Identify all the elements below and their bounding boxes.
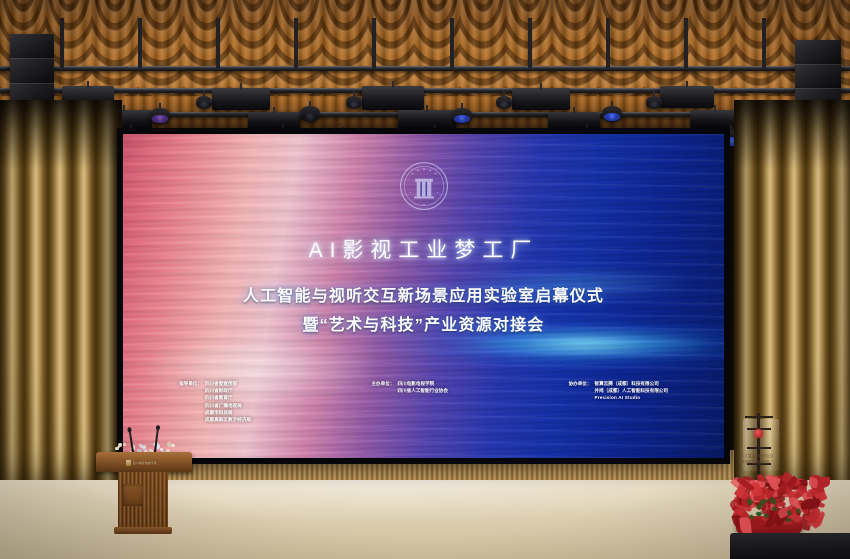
curtain-shadow-right	[734, 100, 850, 170]
truss-hanger	[60, 18, 64, 68]
lighting-truss-2	[0, 88, 850, 93]
led-screen-frame: AI影视工业梦工厂 人工智能与视听交互新场景应用实验室启幕仪式 暨“艺术与科技”…	[117, 128, 730, 464]
plaque-text-line-2: 新场景应用实验室	[741, 459, 770, 464]
credit-entry-1-1: 四川省人工智能行业协会	[397, 388, 448, 393]
wall-drape-texture	[0, 0, 850, 96]
screen-headline: AI影视工业梦工厂	[123, 234, 724, 264]
par-lens	[497, 101, 510, 108]
poinsettia-display	[714, 472, 830, 534]
microphone-head-right	[156, 425, 161, 430]
fixture-yoke	[730, 125, 732, 132]
podium-base	[114, 527, 172, 534]
profile-spotlight-fixture-3	[512, 88, 570, 110]
plaque-text-line-1: 人工智能与视听交互	[741, 453, 773, 458]
fixture-yoke	[426, 105, 428, 112]
par-lens	[647, 101, 660, 108]
fixture-yoke	[540, 83, 542, 90]
profile-spotlight-fixture-2	[362, 86, 424, 110]
podium-plate-text: 四川电影电视学院	[133, 461, 157, 465]
fixture-yoke	[653, 91, 655, 98]
podium-flower	[140, 445, 143, 448]
par-lens	[302, 113, 319, 121]
truss-hanger	[450, 18, 454, 68]
screen-subtitle-line-2: 暨“艺术与科技”产业资源对接会	[123, 311, 724, 335]
credit-entry-0-3: 四川省广播电视局	[205, 403, 251, 408]
credit-label-0: 指导单位：	[179, 381, 202, 387]
microphone-head-left	[127, 427, 132, 433]
credit-list-2: 智算云腾（成都）科技有限公司并鸠（成都）人工智能科技有限公司Precision …	[594, 381, 668, 401]
screen-credits: 指导单位：四川省委宣传部四川省财政厅四川省教育厅四川省广播电视局成都市科技局成都…	[123, 381, 724, 422]
speaker-cabinet-module	[795, 40, 841, 65]
fixture-yoke	[87, 81, 89, 88]
credit-entry-1-0: 四川电影电视学院	[397, 381, 448, 386]
fixture-yoke	[203, 91, 205, 98]
par-lens	[152, 115, 169, 123]
led-par-fixture-1	[300, 106, 320, 122]
podium-seal-icon	[126, 460, 131, 466]
led-par-fixture-3	[602, 106, 622, 122]
par-lens	[454, 115, 471, 123]
led-par-fixture-15	[346, 96, 362, 109]
foreground-equipment	[730, 533, 850, 559]
truss-hanger	[684, 18, 688, 68]
led-par-fixture-16	[496, 96, 512, 109]
credit-list-0: 四川省委宣传部四川省财政厅四川省教育厅四川省广播电视局成都市科技局成都高新区数字…	[205, 381, 251, 422]
fixture-yoke	[273, 107, 275, 114]
plaque-red-accent-icon	[754, 429, 763, 438]
par-lens	[604, 113, 621, 121]
fixture-yoke	[392, 81, 394, 88]
credit-entry-0-4: 成都市科技局	[205, 410, 251, 415]
fixture-yoke	[309, 101, 311, 108]
lighting-truss-1	[0, 66, 850, 71]
profile-spotlight-fixture-4	[660, 86, 714, 108]
side-curtain-left	[0, 100, 122, 480]
podium-flower	[123, 443, 126, 446]
credit-entry-2-1: 并鸠（成都）人工智能科技有限公司	[594, 388, 668, 393]
truss-hanger	[762, 18, 766, 68]
speaker-podium: 四川电影电视学院	[96, 428, 192, 536]
poinsettia-petal	[808, 477, 819, 489]
podium-flower	[118, 443, 122, 447]
credit-entry-2-2: Precision AI Studio	[594, 395, 668, 400]
credit-list-1: 四川电影电视学院四川省人工智能行业协会	[397, 381, 448, 393]
university-seal-emblem	[398, 160, 450, 212]
plaque-bar-1	[745, 416, 773, 418]
screen-subtitle-line-1: 人工智能与视听交互新场景应用实验室启幕仪式	[123, 282, 724, 306]
profile-spotlight-fixture-1	[212, 88, 270, 110]
truss-hanger	[528, 18, 532, 68]
credit-block-1: 主办单位：四川电影电视学院四川省人工智能行业协会	[371, 381, 448, 422]
fixture-yoke	[123, 105, 125, 112]
credit-entry-0-2: 四川省教育厅	[205, 395, 251, 400]
profile-spotlight-fixture-9	[690, 110, 740, 128]
podium-flower	[171, 444, 174, 447]
fixture-yoke	[353, 91, 355, 98]
truss-hanger	[294, 18, 298, 68]
truss-hanger	[138, 18, 142, 68]
profile-spotlight-fixture-7	[398, 110, 456, 130]
led-par-fixture-17	[646, 96, 662, 109]
fixture-yoke	[503, 91, 505, 98]
led-screen: AI影视工业梦工厂 人工智能与视听交互新场景应用实验室启幕仪式 暨“艺术与科技”…	[123, 134, 724, 458]
speaker-cabinet-module	[10, 59, 54, 84]
truss-hanger	[606, 18, 610, 68]
led-par-fixture-2	[452, 108, 472, 124]
credit-entry-0-5: 成都高新区数字经济局	[205, 417, 251, 422]
fixture-yoke	[573, 107, 575, 114]
credit-entry-0-0: 四川省委宣传部	[205, 381, 251, 386]
led-par-fixture-14	[196, 96, 212, 109]
led-par-fixture-0	[150, 108, 170, 124]
credit-entry-2-0: 智算云腾（成都）科技有限公司	[594, 381, 668, 386]
credit-block-0: 指导单位：四川省委宣传部四川省财政厅四川省教育厅四川省广播电视局成都市科技局成都…	[179, 381, 251, 422]
fixture-yoke	[686, 81, 688, 88]
par-lens	[347, 101, 360, 108]
plaque-bar-3	[747, 447, 771, 449]
fixture-yoke	[159, 103, 161, 110]
credit-label-2: 协办单位：	[569, 381, 592, 387]
speaker-cabinet-module	[10, 34, 54, 59]
speaker-cabinet-module	[795, 65, 841, 90]
par-lens	[197, 101, 210, 108]
credit-block-2: 协办单位：智算云腾（成都）科技有限公司并鸠（成都）人工智能科技有限公司Preci…	[569, 381, 669, 422]
credit-label-1: 主办单位：	[371, 381, 394, 387]
stage-scene: AI影视工业梦工厂 人工智能与视听交互新场景应用实验室启幕仪式 暨“艺术与科技”…	[0, 0, 850, 559]
truss-hanger	[372, 18, 376, 68]
fixture-yoke	[240, 83, 242, 90]
fixture-yoke	[461, 103, 463, 110]
fixture-yoke	[714, 105, 716, 112]
podium-nameplate: 四川电影电视学院	[126, 459, 170, 466]
fixture-yoke	[611, 101, 613, 108]
truss-hanger	[216, 18, 220, 68]
credit-entry-0-1: 四川省财政厅	[205, 388, 251, 393]
curtain-shadow-left	[0, 100, 122, 170]
podium-front-panel	[123, 484, 143, 506]
